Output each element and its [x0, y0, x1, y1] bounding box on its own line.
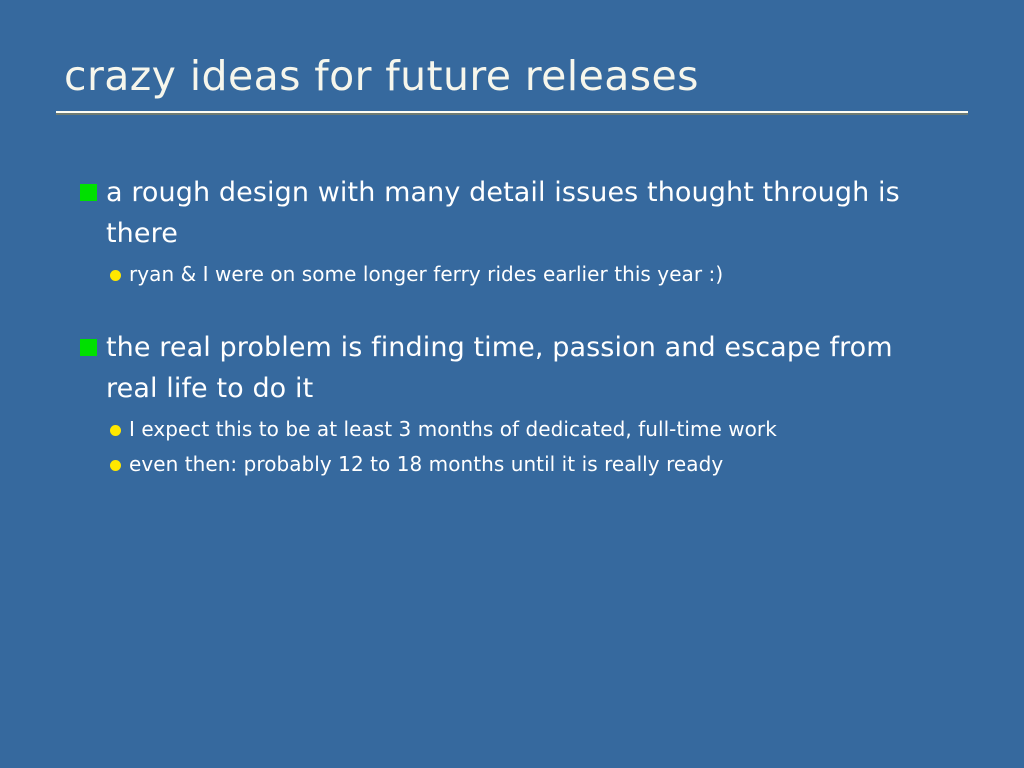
slide-body: a rough design with many detail issues t…: [56, 172, 976, 481]
bullet-group: the real problem is finding time, passio…: [56, 327, 976, 481]
dot-bullet-icon: [110, 425, 121, 436]
sub-bullet-text: even then: probably 12 to 18 months unti…: [129, 448, 723, 481]
slide-title-block: crazy ideas for future releases: [56, 50, 968, 115]
square-bullet-icon: [80, 339, 97, 356]
square-bullet-icon: [80, 184, 97, 201]
bullet-text: the real problem is finding time, passio…: [106, 327, 906, 409]
page-title: crazy ideas for future releases: [56, 50, 968, 102]
bullet-group: a rough design with many detail issues t…: [56, 172, 976, 291]
list-item: even then: probably 12 to 18 months unti…: [56, 448, 976, 481]
dot-bullet-icon: [110, 460, 121, 471]
presentation-slide: crazy ideas for future releases a rough …: [0, 0, 1024, 768]
sub-bullet-text: ryan & I were on some longer ferry rides…: [129, 258, 723, 291]
sub-bullet-list: ryan & I were on some longer ferry rides…: [56, 258, 976, 291]
title-divider: [56, 111, 968, 115]
bullet-text: a rough design with many detail issues t…: [106, 172, 906, 254]
dot-bullet-icon: [110, 270, 121, 281]
list-item: ryan & I were on some longer ferry rides…: [56, 258, 976, 291]
sub-bullet-text: I expect this to be at least 3 months of…: [129, 413, 777, 446]
list-item: I expect this to be at least 3 months of…: [56, 413, 976, 446]
sub-bullet-list: I expect this to be at least 3 months of…: [56, 413, 976, 481]
list-item: the real problem is finding time, passio…: [56, 327, 976, 409]
list-item: a rough design with many detail issues t…: [56, 172, 976, 254]
